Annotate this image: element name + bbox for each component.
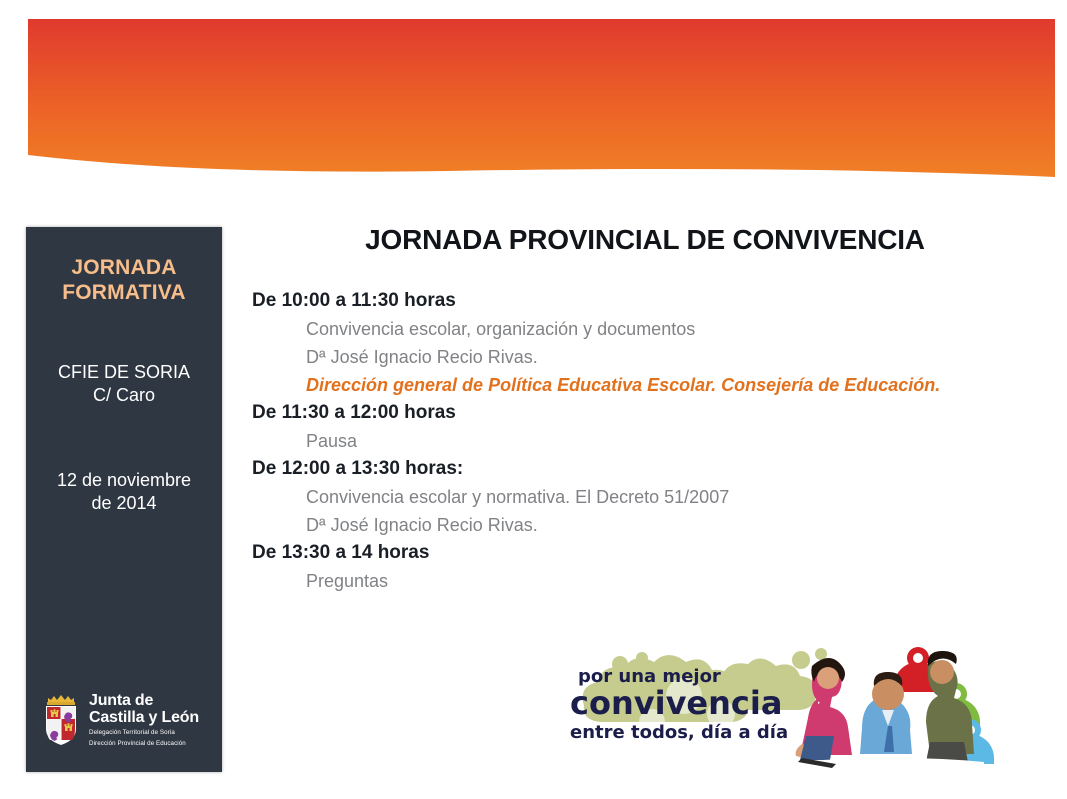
agenda-item: De 11:30 a 12:00 horas (252, 399, 1032, 427)
logo-subtitle-2: Dirección Provincial de Educación (89, 740, 199, 748)
agenda-item: De 12:00 a 13:30 horas: (252, 455, 1032, 483)
agenda-item: De 10:00 a 11:30 horas (252, 287, 1032, 315)
sidebar-date: 12 de noviembre de 2014 (36, 469, 212, 515)
info-sidebar: JORNADA FORMATIVA CFIE DE SORIA C/ Caro … (26, 227, 222, 772)
sidebar-venue: CFIE DE SORIA C/ Caro (36, 361, 212, 407)
students-photo (796, 651, 974, 764)
sidebar-spacer-2 (36, 407, 212, 469)
agenda-item: De 13:30 a 14 horas (252, 539, 1032, 567)
banner-shape (28, 19, 1055, 189)
sidebar-title-line2: FORMATIVA (36, 280, 212, 305)
table-surface (794, 758, 984, 776)
agenda-item: Convivencia escolar, organización y docu… (306, 315, 1032, 343)
logo-line-2: Castilla y León (89, 709, 199, 726)
agenda-item: Pausa (306, 427, 1032, 455)
header-banner (28, 19, 1055, 189)
logo-subtitle-1: Delegación Territorial de Soria (89, 729, 199, 737)
junta-castilla-leon-logo: Junta de Castilla y León Delegación Terr… (40, 692, 216, 748)
convivencia-illustration: por una mejor convivencia entre todos, d… (556, 636, 1008, 786)
agenda-item: Convivencia escolar y normativa. El Decr… (306, 483, 1032, 511)
artwork-line-3: entre todos, día a día (570, 722, 788, 743)
sidebar-date-line2: de 2014 (36, 492, 212, 515)
sidebar-title: JORNADA FORMATIVA (36, 255, 212, 305)
sidebar-venue-line2: C/ Caro (36, 384, 212, 407)
convivencia-graphic: por una mejor convivencia entre todos, d… (556, 636, 1008, 786)
agenda-item: Dª José Ignacio Recio Rivas. (306, 343, 1032, 371)
page-title: JORNADA PROVINCIAL DE CONVIVENCIA (250, 224, 1040, 256)
logo-text-block: Junta de Castilla y León Delegación Terr… (89, 692, 199, 748)
sidebar-venue-line1: CFIE DE SORIA (36, 361, 212, 384)
sidebar-spacer-1 (36, 305, 212, 361)
coat-of-arms-icon (40, 693, 82, 747)
sidebar-title-line1: JORNADA (36, 255, 212, 280)
agenda-item: Preguntas (306, 567, 1032, 595)
artwork-line-2: convivencia (570, 684, 782, 722)
agenda-list: De 10:00 a 11:30 horas Convivencia escol… (252, 287, 1032, 595)
slide-canvas: JORNADA FORMATIVA CFIE DE SORIA C/ Caro … (0, 0, 1067, 799)
logo-line-1: Junta de (89, 692, 199, 709)
agenda-item: Dª José Ignacio Recio Rivas. (306, 511, 1032, 539)
sidebar-date-line1: 12 de noviembre (36, 469, 212, 492)
agenda-item: Dirección general de Política Educativa … (306, 371, 1032, 399)
